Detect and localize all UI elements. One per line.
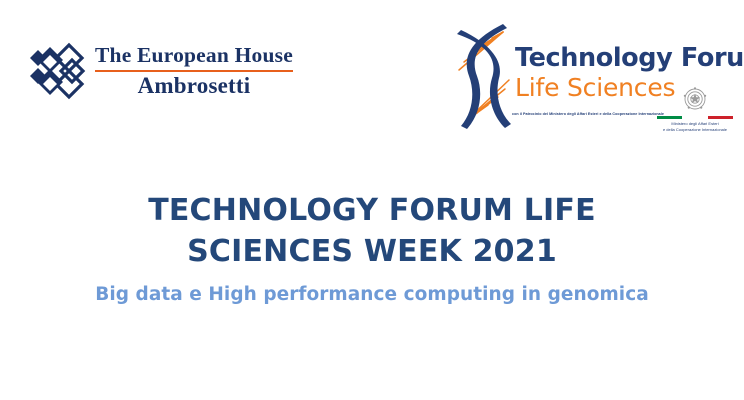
headline-block: TECHNOLOGY FORUM LIFE SCIENCES WEEK 2021… bbox=[0, 190, 744, 305]
slide-title-line-1: TECHNOLOGY FORUM LIFE bbox=[148, 193, 596, 228]
presentation-slide: The European House Ambrosetti bbox=[0, 0, 744, 400]
dna-helix-icon bbox=[447, 16, 525, 134]
slide-subtitle: Big data e High performance computing in… bbox=[0, 284, 744, 305]
ambrosetti-interlocking-diamonds-mark bbox=[28, 40, 86, 102]
slide-title-line-2: SCIENCES WEEK 2021 bbox=[187, 234, 557, 269]
ambrosetti-line-2: Ambrosetti bbox=[138, 74, 251, 97]
flag-stripe-green bbox=[657, 116, 682, 119]
italian-flag-bar bbox=[657, 116, 733, 119]
logo-bar: The European House Ambrosetti bbox=[0, 0, 744, 150]
flag-stripe-red bbox=[708, 116, 733, 119]
ambrosetti-wordmark: The European House Ambrosetti bbox=[95, 45, 293, 97]
ministry-name-line-2: e della Cooperazione Internazionale bbox=[653, 127, 737, 133]
ambrosetti-logo: The European House Ambrosetti bbox=[28, 40, 293, 102]
flag-stripe-white bbox=[682, 116, 707, 119]
italian-republic-emblem bbox=[680, 84, 710, 114]
ambrosetti-line-1: The European House bbox=[95, 45, 293, 67]
patronage-text: con il Patrocinio del Ministero degli Af… bbox=[512, 112, 664, 116]
technology-forum-life-sciences-logo: Technology Forum Life Sciences con il Pa… bbox=[447, 16, 737, 141]
ministry-block: Ministero degli Affari Esteri e della Co… bbox=[653, 84, 737, 133]
technology-forum-line-1: Technology Forum bbox=[515, 46, 744, 72]
slide-title: TECHNOLOGY FORUM LIFE SCIENCES WEEK 2021 bbox=[0, 190, 744, 273]
ambrosetti-orange-rule bbox=[95, 70, 293, 72]
